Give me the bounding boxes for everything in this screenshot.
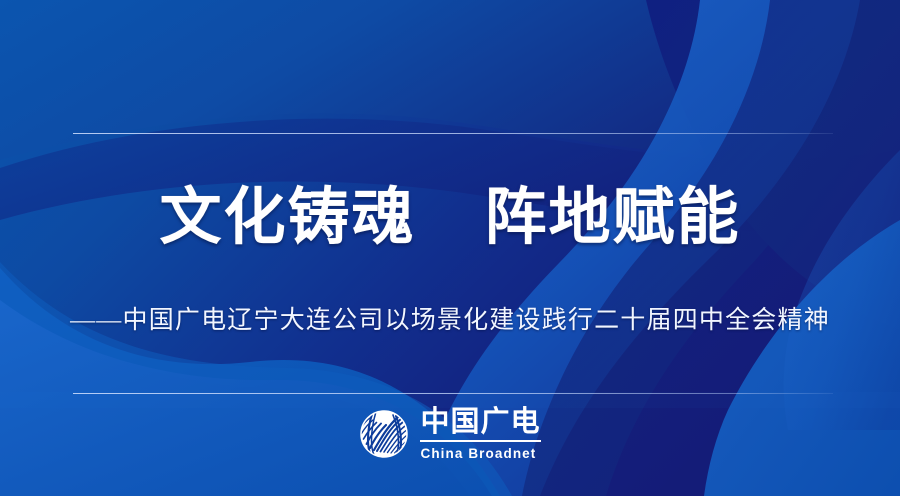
poster-canvas: 文化铸魂 阵地赋能 ——中国广电辽宁大连公司以场景化建设践行二十届四中全会精神 <box>0 0 900 496</box>
poster-headline: 文化铸魂 阵地赋能 <box>0 186 900 251</box>
bottom-divider-rule <box>73 393 833 394</box>
china-broadnet-globe-emblem-icon <box>359 409 409 459</box>
headline-part-2: 阵地赋能 <box>485 184 741 252</box>
top-divider-rule <box>73 133 833 134</box>
brand-logo-lockup: 中国广电 China Broadnet <box>0 408 900 461</box>
headline-part-1: 文化铸魂 <box>159 184 415 252</box>
poster-subtitle: ——中国广电辽宁大连公司以场景化建设践行二十届四中全会精神 <box>0 306 900 336</box>
brand-wordmark: 中国广电 China Broadnet <box>420 408 540 461</box>
brand-name-chinese: 中国广电 <box>420 408 540 442</box>
brand-name-english: China Broadnet <box>420 447 536 461</box>
